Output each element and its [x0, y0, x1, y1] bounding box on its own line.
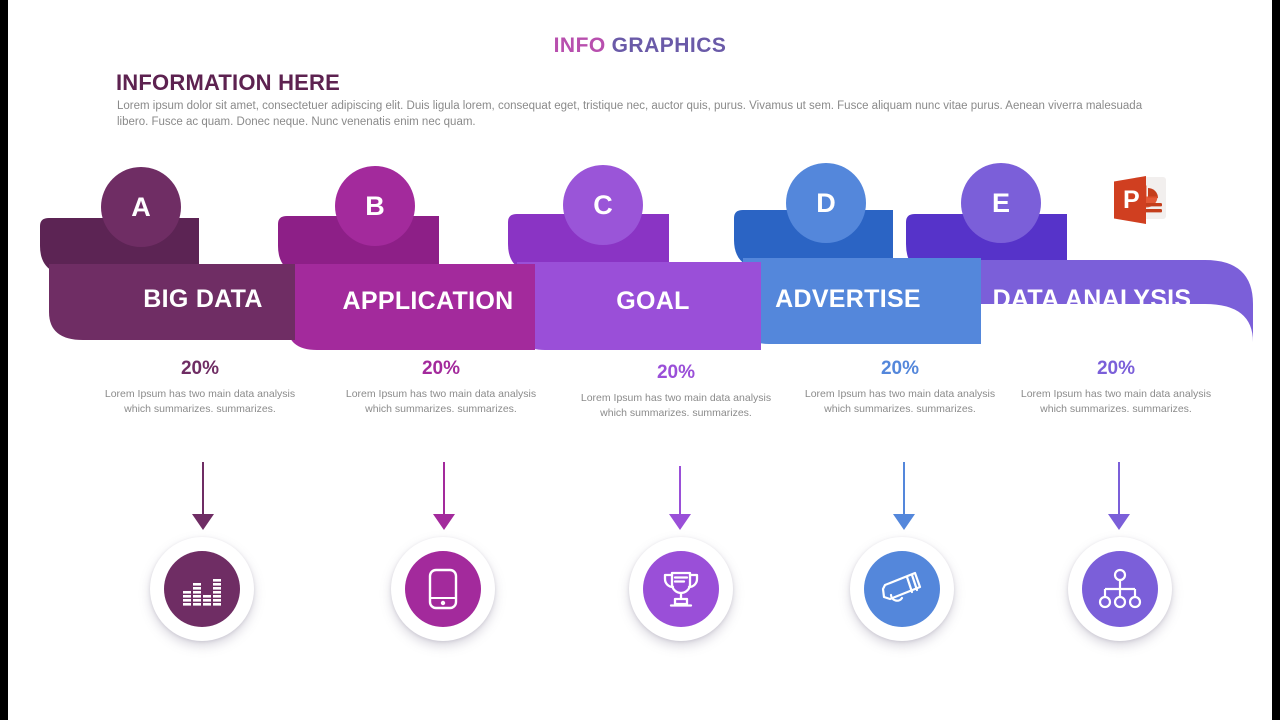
step-letter-circle-d[interactable]: D: [786, 163, 866, 243]
icon-badge-a[interactable]: [150, 537, 254, 641]
step-text-column-c: 20% Lorem Ipsum has two main data analys…: [561, 362, 791, 420]
step-letter-c: C: [593, 190, 613, 221]
step-description-c: Lorem Ipsum has two main data analysis w…: [561, 391, 791, 420]
powerpoint-letter: P: [1123, 186, 1140, 214]
step-text-column-b: 20% Lorem Ipsum has two main data analys…: [326, 358, 556, 416]
step-letter-circle-a[interactable]: A: [101, 167, 181, 247]
down-arrow-e: [1107, 462, 1131, 530]
powerpoint-icon: P: [1108, 172, 1170, 228]
icon-badge-d[interactable]: [850, 537, 954, 641]
banner-label-advertise: ADVERTISE: [728, 285, 968, 314]
down-arrow-d: [892, 462, 916, 530]
banner-label-application: APPLICATION: [298, 287, 558, 316]
ribbon-banner-group: A B C D E BIG DATA APPLICATION GOAL ADVE…: [8, 0, 1272, 360]
slide-canvas: INFO GRAPHICS INFORMATION HERE Lorem ips…: [8, 0, 1272, 720]
step-percent-c: 20%: [561, 362, 791, 384]
step-percent-e: 20%: [1001, 358, 1231, 380]
equalizer-bars-icon: [164, 551, 240, 627]
down-arrow-b: [432, 462, 456, 530]
icon-badge-c[interactable]: [629, 537, 733, 641]
banner-c[interactable]: [508, 214, 761, 350]
step-letter-circle-b[interactable]: B: [335, 166, 415, 246]
down-arrow-a: [191, 462, 215, 530]
step-letter-d: D: [816, 188, 836, 219]
banner-label-data-analysis: DATA ANALYSIS: [963, 285, 1221, 314]
banner-b[interactable]: [278, 216, 535, 350]
down-arrow-c: [668, 466, 692, 530]
smartphone-icon: [405, 551, 481, 627]
step-percent-a: 20%: [85, 358, 315, 380]
step-letter-e: E: [992, 188, 1010, 219]
step-description-b: Lorem Ipsum has two main data analysis w…: [326, 387, 556, 416]
hierarchy-icon: [1082, 551, 1158, 627]
step-percent-b: 20%: [326, 358, 556, 380]
megaphone-icon: [864, 551, 940, 627]
step-letter-a: A: [131, 192, 151, 223]
step-description-e: Lorem Ipsum has two main data analysis w…: [1001, 387, 1231, 416]
step-letter-circle-c[interactable]: C: [563, 165, 643, 245]
step-description-a: Lorem Ipsum has two main data analysis w…: [85, 387, 315, 416]
step-text-column-d: 20% Lorem Ipsum has two main data analys…: [785, 358, 1015, 416]
step-text-column-e: 20% Lorem Ipsum has two main data analys…: [1001, 358, 1231, 416]
step-letter-b: B: [365, 191, 385, 222]
step-letter-circle-e[interactable]: E: [961, 163, 1041, 243]
step-percent-d: 20%: [785, 358, 1015, 380]
trophy-icon: [643, 551, 719, 627]
icon-badge-e[interactable]: [1068, 537, 1172, 641]
step-text-column-a: 20% Lorem Ipsum has two main data analys…: [85, 358, 315, 416]
icon-badge-b[interactable]: [391, 537, 495, 641]
step-description-d: Lorem Ipsum has two main data analysis w…: [785, 387, 1015, 416]
